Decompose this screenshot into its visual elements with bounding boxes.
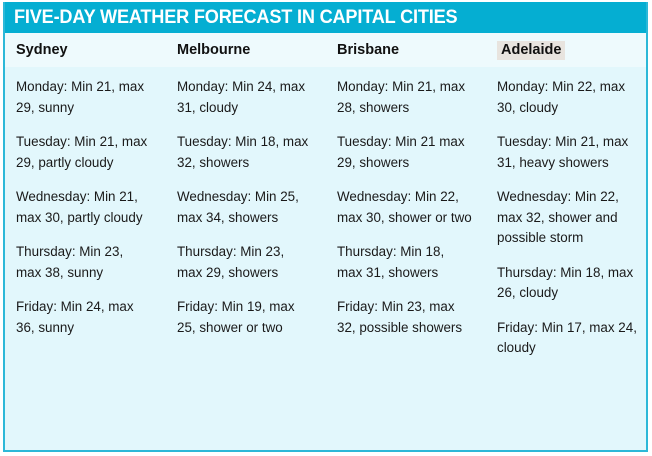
forecast-entry: Tuesday: Min 21 max 29, showers [337,132,472,173]
forecast-entry: Tuesday: Min 18, max 32, showers [177,132,312,173]
forecast-entry: Monday: Min 24, max 31, cloudy [177,77,312,118]
forecast-entry: Wednesday: Min 25, max 34, showers [177,187,312,228]
column-header-label: Adelaide [497,41,565,60]
forecast-entry: Thursday: Min 23, max 29, showers [177,242,312,283]
forecast-column-melbourne: Monday: Min 24, max 31, cloudy Tuesday: … [166,67,326,448]
column-header-brisbane: Brisbane [326,42,486,58]
page-title: FIVE-DAY WEATHER FORECAST IN CAPITAL CIT… [14,6,457,29]
column-header-label: Melbourne [177,42,250,58]
forecast-column-brisbane: Monday: Min 21, max 28, showers Tuesday:… [326,67,486,448]
forecast-body: Monday: Min 21, max 29, sunny Tuesday: M… [5,67,646,448]
column-header-melbourne: Melbourne [166,42,326,58]
forecast-entry: Wednesday: Min 22, max 32, shower and po… [497,187,640,249]
forecast-entry: Monday: Min 21, max 28, showers [337,77,472,118]
forecast-column-sydney: Monday: Min 21, max 29, sunny Tuesday: M… [5,67,166,448]
forecast-entry: Monday: Min 22, max 30, cloudy [497,77,640,118]
forecast-entry: Wednesday: Min 21, max 30, partly cloudy [16,187,152,228]
forecast-entry: Tuesday: Min 21, max 29, partly cloudy [16,132,152,173]
forecast-entry: Tuesday: Min 21, max 31, heavy showers [497,132,640,173]
forecast-entry: Thursday: Min 23, max 38, sunny [16,242,152,283]
column-header-sydney: Sydney [5,42,166,58]
forecast-entry: Thursday: Min 18, max 26, cloudy [497,263,640,304]
city-header-row: Sydney Melbourne Brisbane Adelaide [5,33,646,67]
forecast-entry: Friday: Min 23, max 32, possible showers [337,297,472,338]
forecast-entry: Thursday: Min 18, max 31, showers [337,242,472,283]
forecast-column-adelaide: Monday: Min 22, max 30, cloudy Tuesday: … [486,67,646,448]
column-header-label: Sydney [16,42,68,58]
forecast-table-card: FIVE-DAY WEATHER FORECAST IN CAPITAL CIT… [3,2,648,452]
forecast-entry: Friday: Min 24, max 36, sunny [16,297,152,338]
forecast-entry: Friday: Min 17, max 24, cloudy [497,318,640,359]
table-title-bar: FIVE-DAY WEATHER FORECAST IN CAPITAL CIT… [5,2,646,33]
forecast-entry: Friday: Min 19, max 25, shower or two [177,297,312,338]
column-header-label: Brisbane [337,42,399,58]
column-header-adelaide: Adelaide [486,42,646,58]
forecast-entry: Monday: Min 21, max 29, sunny [16,77,152,118]
forecast-entry: Wednesday: Min 22, max 30, shower or two [337,187,472,228]
